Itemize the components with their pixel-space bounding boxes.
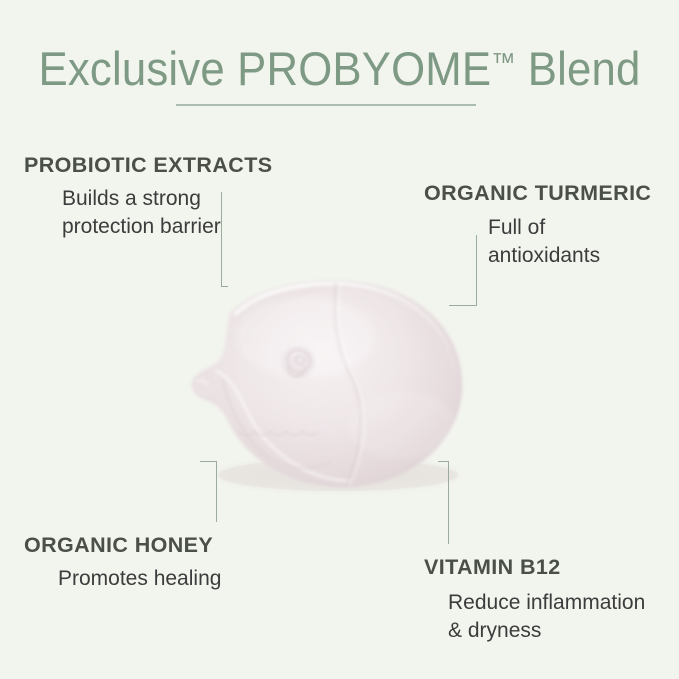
callout-description-line: antioxidants bbox=[488, 242, 679, 270]
callout-description-probiotic-extracts: Builds a strong protection barrier bbox=[24, 185, 324, 241]
callout-vitamin-b12: VITAMIN B12 Reduce inflammation & drynes… bbox=[424, 554, 679, 645]
page-title-suffix: Blend bbox=[515, 42, 640, 95]
callout-organic-turmeric: ORGANIC TURMERIC Full of antioxidants bbox=[424, 180, 679, 270]
callout-description-line: Promotes healing bbox=[58, 565, 324, 593]
callout-heading-organic-honey: ORGANIC HONEY bbox=[24, 532, 324, 558]
callout-description-line: protection barrier bbox=[62, 213, 324, 241]
trademark-symbol: ™ bbox=[491, 47, 515, 77]
callout-description-organic-turmeric: Full of antioxidants bbox=[424, 214, 679, 270]
callout-description-line: Full of bbox=[488, 214, 679, 242]
callout-description-line: Reduce inflammation bbox=[448, 589, 679, 617]
callout-description-line: Builds a strong bbox=[62, 185, 324, 213]
callout-heading-organic-turmeric: ORGANIC TURMERIC bbox=[424, 180, 679, 206]
title-divider bbox=[176, 104, 476, 106]
connector-line-organic-honey bbox=[200, 461, 217, 522]
product-photo-nursing-pad bbox=[186, 275, 478, 495]
callout-description-organic-honey: Promotes healing bbox=[24, 565, 324, 593]
page-title: Exclusive PROBYOME™ Blend bbox=[24, 33, 655, 98]
connector-line-vitamin-b12 bbox=[438, 461, 449, 544]
callout-description-line: & dryness bbox=[448, 617, 679, 645]
callout-organic-honey: ORGANIC HONEY Promotes healing bbox=[24, 532, 324, 593]
infographic-root: Exclusive PROBYOME™ Blend bbox=[0, 0, 679, 679]
callout-heading-vitamin-b12: VITAMIN B12 bbox=[424, 554, 679, 580]
page-title-prefix: Exclusive PROBYOME bbox=[39, 42, 492, 95]
callout-heading-probiotic-extracts: PROBIOTIC EXTRACTS bbox=[24, 152, 324, 178]
callout-probiotic-extracts: PROBIOTIC EXTRACTS Builds a strong prote… bbox=[24, 152, 324, 241]
callout-description-vitamin-b12: Reduce inflammation & dryness bbox=[424, 589, 679, 645]
